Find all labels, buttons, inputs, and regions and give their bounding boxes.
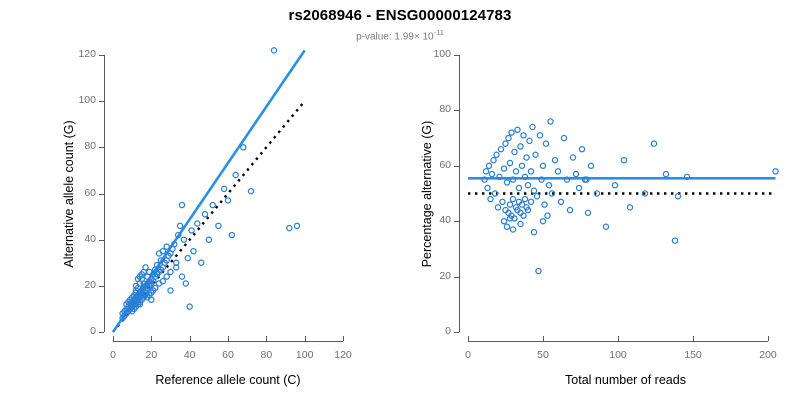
data-point: [570, 155, 575, 160]
data-point: [510, 227, 515, 232]
data-point: [191, 249, 196, 254]
data-point: [179, 274, 184, 279]
data-point: [527, 138, 532, 143]
data-point: [503, 141, 508, 146]
data-point: [287, 226, 292, 231]
data-point: [612, 183, 617, 188]
x-axis-tick-label: 100: [593, 349, 643, 361]
y-axis-line: [104, 55, 105, 332]
data-point: [501, 219, 506, 224]
y-axis-tick: [99, 101, 104, 102]
y-axis-title-right: Percentage alternative (G): [420, 120, 434, 267]
y-axis-tick: [99, 240, 104, 241]
x-axis-title-left: Reference allele count (C): [155, 373, 300, 387]
data-point: [179, 202, 184, 207]
data-point: [500, 199, 505, 204]
y-axis-tick-label: 100: [56, 94, 96, 106]
y-axis-tick: [454, 332, 459, 333]
data-point: [522, 196, 527, 201]
x-axis-tick: [468, 336, 469, 341]
x-axis-tick-label: 200: [743, 349, 793, 361]
x-axis-tick: [190, 336, 191, 341]
y-axis-tick: [454, 166, 459, 167]
data-point: [518, 221, 523, 226]
data-point: [521, 133, 526, 138]
data-point: [552, 158, 557, 163]
data-point: [519, 163, 524, 168]
data-point: [168, 288, 173, 293]
data-point: [225, 198, 230, 203]
data-point: [555, 169, 560, 174]
x-axis-tick: [768, 336, 769, 341]
x-axis-tick: [266, 336, 267, 341]
data-point: [501, 166, 506, 171]
scatter-panel-right: Percentage alternative (G) Total number …: [400, 0, 800, 400]
data-point: [164, 274, 169, 279]
data-point: [545, 213, 550, 218]
data-point: [195, 221, 200, 226]
data-point: [540, 163, 545, 168]
y-axis-tick-label: 40: [411, 214, 451, 226]
data-point: [515, 127, 520, 132]
data-point: [271, 48, 276, 53]
y-axis-tick: [99, 286, 104, 287]
data-point: [177, 223, 182, 228]
x-axis-tick: [151, 336, 152, 341]
data-point: [546, 183, 551, 188]
data-point: [498, 147, 503, 152]
x-axis-tick-label: 150: [668, 349, 718, 361]
data-point: [542, 202, 547, 207]
data-point: [533, 152, 538, 157]
data-point: [143, 265, 148, 270]
data-point: [485, 185, 490, 190]
data-point: [233, 172, 238, 177]
data-point: [512, 149, 517, 154]
data-point: [536, 268, 541, 273]
data-point: [483, 169, 488, 174]
data-point: [530, 124, 535, 129]
x-axis-title-right: Total number of reads: [565, 373, 686, 387]
data-point: [510, 196, 515, 201]
data-point: [528, 169, 533, 174]
y-axis-tick: [99, 147, 104, 148]
data-point: [248, 189, 253, 194]
data-point: [663, 172, 668, 177]
y-axis-tick: [99, 332, 104, 333]
scatter-panel-left: Alternative allele count (G) Reference a…: [0, 0, 400, 400]
y-axis-tick-label: 20: [56, 279, 96, 291]
x-axis-tick: [543, 336, 544, 341]
data-point: [222, 186, 227, 191]
y-axis-tick-label: 60: [411, 159, 451, 171]
data-point: [181, 237, 186, 242]
data-layer: [468, 55, 783, 332]
data-point: [621, 158, 626, 163]
x-axis-tick: [305, 336, 306, 341]
x-axis-tick: [228, 336, 229, 341]
y-axis-tick-label: 40: [56, 233, 96, 245]
data-layer: [113, 55, 343, 332]
x-axis-line: [468, 341, 768, 342]
data-point: [524, 155, 529, 160]
y-axis-tick: [99, 194, 104, 195]
data-point: [504, 180, 509, 185]
data-point: [491, 158, 496, 163]
y-axis-tick-label: 60: [56, 187, 96, 199]
data-point: [558, 199, 563, 204]
data-point: [531, 230, 536, 235]
y-axis-tick-label: 0: [411, 325, 451, 337]
data-point: [585, 210, 590, 215]
x-axis-tick-label: 50: [518, 349, 568, 361]
data-point: [199, 260, 204, 265]
data-point: [202, 212, 207, 217]
data-point: [627, 205, 632, 210]
data-point: [603, 224, 608, 229]
y-axis-tick: [454, 221, 459, 222]
y-axis-tick-label: 20: [411, 270, 451, 282]
data-point: [488, 196, 493, 201]
data-point: [573, 172, 578, 177]
x-axis-tick: [113, 336, 114, 341]
data-point: [189, 228, 194, 233]
data-point: [773, 169, 778, 174]
chart-page: rs2068946 - ENSG00000124783 p-value: 1.9…: [0, 0, 800, 400]
data-point: [576, 185, 581, 190]
data-point: [525, 183, 530, 188]
data-point: [507, 202, 512, 207]
data-point: [183, 281, 188, 286]
y-axis-tick-label: 0: [56, 325, 96, 337]
x-axis-tick-label: 0: [443, 349, 493, 361]
data-point: [579, 147, 584, 152]
data-point: [561, 136, 566, 141]
y-axis-tick-label: 100: [411, 48, 451, 60]
data-point: [495, 205, 500, 210]
data-point: [507, 160, 512, 165]
data-point: [504, 224, 509, 229]
y-axis-tick-label: 80: [411, 103, 451, 115]
data-point: [187, 304, 192, 309]
data-point: [537, 133, 542, 138]
y-axis-tick: [454, 110, 459, 111]
data-point: [531, 188, 536, 193]
data-point: [229, 232, 234, 237]
data-point: [543, 141, 548, 146]
x-axis-tick-label: 120: [318, 349, 368, 361]
y-axis-tick: [454, 55, 459, 56]
data-point: [540, 219, 545, 224]
data-point: [489, 172, 494, 177]
x-axis-tick: [693, 336, 694, 341]
y-axis-line: [459, 55, 460, 332]
data-point: [168, 269, 173, 274]
data-point: [494, 152, 499, 157]
data-point: [294, 223, 299, 228]
y-axis-tick: [99, 55, 104, 56]
data-point: [518, 144, 523, 149]
plot-area-left: [113, 55, 343, 332]
data-point: [216, 223, 221, 228]
x-axis-tick: [343, 336, 344, 341]
data-point: [548, 119, 553, 124]
data-point: [651, 141, 656, 146]
data-point: [567, 208, 572, 213]
data-point: [672, 238, 677, 243]
data-point: [506, 136, 511, 141]
data-point: [185, 256, 190, 261]
data-point: [509, 130, 514, 135]
data-point: [210, 202, 215, 207]
data-point: [588, 163, 593, 168]
y-axis-tick-label: 120: [56, 48, 96, 60]
data-point: [486, 163, 491, 168]
data-point: [534, 194, 539, 199]
y-axis-tick-label: 80: [56, 140, 96, 152]
plot-area-right: [468, 55, 783, 332]
x-axis-tick: [618, 336, 619, 341]
data-point: [241, 145, 246, 150]
data-point: [164, 244, 169, 249]
data-point: [528, 199, 533, 204]
y-axis-tick: [454, 277, 459, 278]
data-point: [516, 185, 521, 190]
data-point: [206, 237, 211, 242]
data-point: [513, 169, 518, 174]
x-axis-line: [113, 341, 343, 342]
